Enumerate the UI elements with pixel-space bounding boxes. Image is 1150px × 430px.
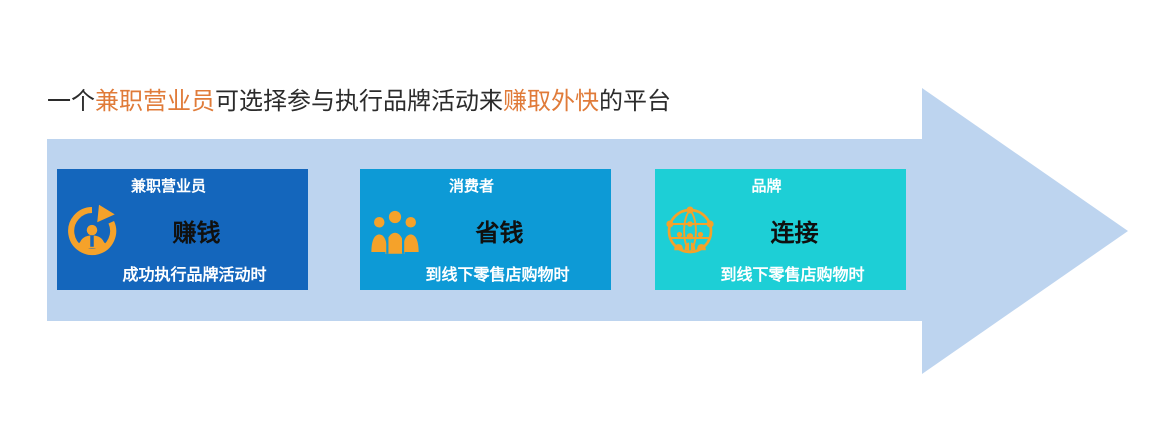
page-title: 一个兼职营业员可选择参与执行品牌活动来赚取外快的平台 [47,86,671,118]
headline-segment-0: 一个 [47,88,95,115]
headline-segment-4: 的平台 [599,88,671,115]
card-title: 消费者 [346,175,597,196]
card-main-text: 连接 [669,213,920,248]
benefit-card-consumer[interactable]: 消费者 省钱 到线下零售店购物时 [360,169,611,290]
headline-segment-2: 可选择参与执行品牌活动来 [215,88,503,115]
headline-segment-1-highlight: 兼职营业员 [95,88,215,115]
card-footer-text: 到线下零售店购物时 [372,261,623,285]
benefit-card-parttime-clerk[interactable]: 兼职营业员 赚钱 成功执行品牌活动时 [57,169,308,290]
card-main-text: 赚钱 [71,213,322,248]
arrow-head-icon [922,88,1128,374]
card-title: 兼职营业员 [43,175,294,196]
card-footer-text: 到线下零售店购物时 [667,261,918,285]
benefit-card-brand[interactable]: 品牌 连接 到线下零售店购物时 [655,169,906,290]
headline-segment-3-highlight: 赚取外快 [503,88,599,115]
card-title: 品牌 [641,175,892,196]
card-main-text: 省钱 [374,213,625,248]
card-footer-text: 成功执行品牌活动时 [69,261,320,285]
